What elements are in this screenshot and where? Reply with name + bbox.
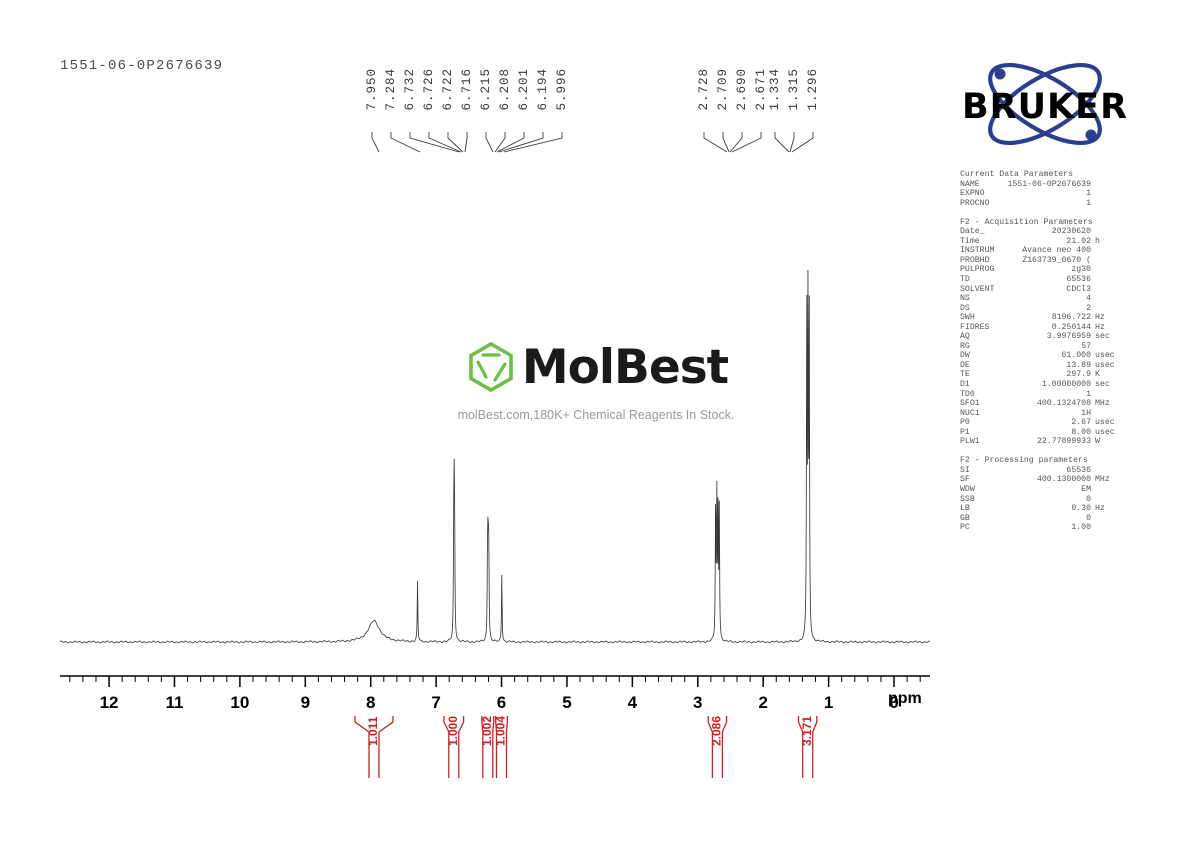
peak-label: 6.215: [479, 68, 493, 111]
parameter-row: DW61.000usec: [960, 351, 1125, 361]
parameter-value: 297.9: [970, 370, 1091, 380]
peak-label: 6.722: [441, 68, 455, 111]
peak-label: 2.709: [716, 68, 730, 111]
parameter-unit: h: [1091, 237, 1125, 247]
parameter-unit: [1091, 342, 1125, 352]
parameter-key: TE: [960, 370, 970, 380]
parameter-row: SF400.1300000MHz: [960, 475, 1125, 485]
parameter-value: 1: [985, 189, 1091, 199]
parameter-key: NUC1: [960, 409, 980, 419]
parameter-unit: usec: [1091, 418, 1125, 428]
parameter-unit: [1091, 485, 1125, 495]
parameter-unit: [1091, 246, 1125, 256]
parameter-unit: [1091, 227, 1125, 237]
parameter-row: NAME1551-06-0P2676639: [960, 180, 1125, 190]
parameter-key: EXPNO: [960, 189, 985, 199]
peak-leader-line: [465, 132, 467, 152]
parameter-key: Date_: [960, 227, 985, 237]
parameter-unit: [1091, 285, 1125, 295]
parameter-value: 1551-06-0P2676639: [980, 180, 1091, 190]
parameter-value: zg30: [994, 265, 1091, 275]
parameter-value: 22.77899933: [980, 437, 1091, 447]
peak-leader-line: [391, 132, 420, 152]
parameter-value: Z163739_0670 (: [989, 256, 1091, 266]
parameter-key: RG: [960, 342, 970, 352]
parameter-row: SWH8196.722Hz: [960, 313, 1125, 323]
integral-value: 2.086: [710, 716, 724, 746]
peak-label: 2.690: [735, 68, 749, 111]
parameter-value: Avance neo 400: [994, 246, 1091, 256]
parameter-key: GB: [960, 514, 970, 524]
parameter-key: SSB: [960, 495, 975, 505]
parameter-value: 21.02: [980, 237, 1091, 247]
peak-label: 1.334: [768, 68, 782, 111]
parameter-key: LB: [960, 504, 970, 514]
parameter-row: AQ3.9976959sec: [960, 332, 1125, 342]
parameter-unit: sec: [1091, 332, 1125, 342]
parameter-value: 13.89: [970, 361, 1091, 371]
axis-tick-label: 9: [301, 693, 310, 712]
parameter-value: 400.1324708: [980, 399, 1091, 409]
axis-tick-label: 11: [165, 693, 183, 712]
peak-label: 5.996: [555, 68, 569, 111]
parameter-unit: Hz: [1091, 313, 1125, 323]
peak-label: 2.671: [754, 68, 768, 111]
parameter-row: Date_20230620: [960, 227, 1125, 237]
parameter-value: 4: [970, 294, 1091, 304]
parameter-section: F2 - Acquisition ParametersDate_20230620…: [960, 218, 1125, 447]
parameter-row: GB0: [960, 514, 1125, 524]
parameter-value: 0: [970, 514, 1091, 524]
parameter-key: SFO1: [960, 399, 980, 409]
parameter-row: TE297.9K: [960, 370, 1125, 380]
parameter-key: PROCNO: [960, 199, 989, 209]
axis-tick-label: 8: [366, 693, 375, 712]
parameter-key: SF: [960, 475, 970, 485]
parameter-key: FIDRES: [960, 323, 989, 333]
parameter-key: DS: [960, 304, 970, 314]
parameter-row: PULPROGzg30: [960, 265, 1125, 275]
parameter-key: TD0: [960, 390, 975, 400]
parameter-unit: usec: [1091, 428, 1125, 438]
parameter-value: 2.67: [970, 418, 1091, 428]
peak-leader-line: [732, 132, 761, 152]
parameter-row: SFO1400.1324708MHz: [960, 399, 1125, 409]
parameter-value: 0.30: [970, 504, 1091, 514]
parameter-value: 57: [970, 342, 1091, 352]
parameter-row: D11.00000000sec: [960, 380, 1125, 390]
parameter-key: INSTRUM: [960, 246, 994, 256]
parameter-key: WDW: [960, 485, 975, 495]
parameter-section-heading: F2 - Processing parameters: [960, 456, 1125, 466]
peak-leader-line: [497, 132, 524, 152]
parameter-row: Time21.02h: [960, 237, 1125, 247]
parameter-unit: [1091, 256, 1125, 266]
parameter-key: TD: [960, 275, 970, 285]
peak-label: 2.728: [697, 68, 711, 111]
parameter-key: NS: [960, 294, 970, 304]
axis-tick-label: 1: [824, 693, 833, 712]
parameter-row: TD01: [960, 390, 1125, 400]
axis-tick-label: 3: [693, 693, 702, 712]
parameter-row: LB0.30Hz: [960, 504, 1125, 514]
peak-leader-line: [775, 132, 789, 152]
parameter-value: 65536: [970, 275, 1091, 285]
nmr-trace: [60, 270, 930, 643]
parameter-unit: [1091, 265, 1125, 275]
parameter-key: DW: [960, 351, 970, 361]
integral-layer: 1.0111.0001.0021.0042.0863.171: [60, 712, 930, 782]
parameter-key: NAME: [960, 180, 980, 190]
parameter-row: P18.00usec: [960, 428, 1125, 438]
peak-label: 6.716: [460, 68, 474, 111]
axis-tick-label: 12: [100, 693, 119, 712]
parameter-key: Time: [960, 237, 980, 247]
parameter-value: 65536: [970, 466, 1091, 476]
parameter-row: DE13.89usec: [960, 361, 1125, 371]
integral-value: 1.002: [480, 716, 494, 746]
axis-ticks: [70, 676, 920, 687]
peak-label: 6.194: [536, 68, 550, 111]
parameter-value: 0.250144: [989, 323, 1091, 333]
peak-leader-line: [790, 132, 794, 152]
axis-tick-label: 5: [562, 693, 571, 712]
parameter-unit: [1091, 275, 1125, 285]
parameter-key: SOLVENT: [960, 285, 994, 295]
parameter-unit: sec: [1091, 380, 1125, 390]
peak-label: 6.732: [403, 68, 417, 111]
parameter-value: 2: [970, 304, 1091, 314]
parameter-key: SWH: [960, 313, 975, 323]
acquisition-parameters-panel: Current Data ParametersNAME1551-06-0P267…: [960, 170, 1125, 542]
parameter-key: DE: [960, 361, 970, 371]
parameter-value: 20230620: [985, 227, 1091, 237]
peak-label: 6.208: [498, 68, 512, 111]
parameter-row: SOLVENTCDCl3: [960, 285, 1125, 295]
parameter-unit: [1091, 199, 1125, 209]
parameter-unit: [1091, 180, 1125, 190]
parameter-value: 0: [975, 495, 1091, 505]
parameter-row: WDWEM: [960, 485, 1125, 495]
peak-leader-line: [486, 132, 493, 152]
parameter-row: FIDRES0.250144Hz: [960, 323, 1125, 333]
axis-tick-label: 10: [230, 693, 249, 712]
parameter-key: P1: [960, 428, 970, 438]
parameter-value: 8196.722: [975, 313, 1091, 323]
peak-leader-line: [792, 132, 813, 152]
parameter-unit: [1091, 523, 1125, 533]
parameter-unit: [1091, 304, 1125, 314]
peak-label: 6.201: [517, 68, 531, 111]
peak-leader-line: [429, 132, 461, 152]
parameter-value: 400.1300000: [970, 475, 1091, 485]
parameter-unit: [1091, 495, 1125, 505]
parameter-row: SSB0: [960, 495, 1125, 505]
parameter-key: AQ: [960, 332, 970, 342]
parameter-unit: Hz: [1091, 504, 1125, 514]
parameter-unit: [1091, 294, 1125, 304]
parameter-key: PLW1: [960, 437, 980, 447]
parameter-unit: [1091, 409, 1125, 419]
nmr-spectrum-page: 1551-06-0P2676639 7.9507.2846.7326.7266.…: [0, 0, 1190, 842]
peak-label: 7.284: [384, 68, 398, 111]
parameter-unit: [1091, 466, 1125, 476]
parameter-row: EXPNO1: [960, 189, 1125, 199]
axis-unit-label: ppm: [888, 690, 922, 708]
integral-value: 1.000: [446, 716, 460, 746]
parameter-value: 8.00: [970, 428, 1091, 438]
parameter-section-heading: Current Data Parameters: [960, 170, 1125, 180]
axis-tick-labels: 1211109876543210: [100, 693, 899, 712]
axis-tick-label: 4: [628, 693, 638, 712]
integral-value: 1.004: [494, 716, 508, 746]
peak-label: 1.315: [787, 68, 801, 111]
peak-leader-line: [372, 132, 379, 152]
parameter-value: 1H: [980, 409, 1091, 419]
spectrum-trace-area: [60, 270, 930, 655]
parameter-row: SI65536: [960, 466, 1125, 476]
peak-leader-line: [504, 132, 562, 152]
integral-value: 3.171: [800, 716, 814, 746]
axis-tick-label: 6: [497, 693, 506, 712]
parameter-row: NUC11H: [960, 409, 1125, 419]
parameter-section: Current Data ParametersNAME1551-06-0P267…: [960, 170, 1125, 208]
parameter-value: 3.9976959: [970, 332, 1091, 342]
parameter-unit: usec: [1091, 361, 1125, 371]
parameter-row: NS4: [960, 294, 1125, 304]
parameter-row: DS2: [960, 304, 1125, 314]
peak-leader-line: [704, 132, 727, 152]
bruker-logo: BRUKER: [958, 52, 1133, 157]
parameter-value: 61.000: [970, 351, 1091, 361]
parameter-key: PROBHD: [960, 256, 989, 266]
parameter-key: PC: [960, 523, 970, 533]
bruker-wordmark: BRUKER: [962, 87, 1128, 127]
peak-leader-line: [730, 132, 742, 152]
parameter-row: PROBHDZ163739_0670 (: [960, 256, 1125, 266]
integral-value: 1.011: [366, 716, 380, 746]
parameter-unit: [1091, 514, 1125, 524]
parameter-key: D1: [960, 380, 970, 390]
axis-tick-label: 2: [758, 693, 767, 712]
peak-leader-line: [499, 132, 543, 152]
parameter-row: INSTRUMAvance neo 400: [960, 246, 1125, 256]
parameter-value: 1: [975, 390, 1091, 400]
parameter-unit: MHz: [1091, 475, 1125, 485]
parameter-value: 1: [989, 199, 1091, 209]
peak-label: 1.296: [806, 68, 820, 111]
parameter-row: RG57: [960, 342, 1125, 352]
parameter-value: EM: [975, 485, 1091, 495]
parameter-value: CDCl3: [994, 285, 1091, 295]
parameter-value: 1.00000000: [970, 380, 1091, 390]
parameter-row: PLW122.77899933W: [960, 437, 1125, 447]
parameter-unit: Hz: [1091, 323, 1125, 333]
peak-leader-line: [723, 132, 729, 152]
parameter-row: PC1.00: [960, 523, 1125, 533]
parameter-unit: usec: [1091, 351, 1125, 361]
parameter-row: P02.67usec: [960, 418, 1125, 428]
parameter-value: 1.00: [970, 523, 1091, 533]
parameter-key: PULPROG: [960, 265, 994, 275]
parameter-key: SI: [960, 466, 970, 476]
parameter-row: PROCNO1: [960, 199, 1125, 209]
parameter-section: F2 - Processing parametersSI65536SF400.1…: [960, 456, 1125, 532]
parameter-unit: [1091, 390, 1125, 400]
parameter-unit: K: [1091, 370, 1125, 380]
axis-tick-label: 7: [431, 693, 440, 712]
parameter-unit: MHz: [1091, 399, 1125, 409]
peak-leader-line: [448, 132, 463, 152]
parameter-row: TD65536: [960, 275, 1125, 285]
parameter-unit: W: [1091, 437, 1125, 447]
parameter-key: P0: [960, 418, 970, 428]
peak-label: 6.726: [422, 68, 436, 111]
parameter-unit: [1091, 189, 1125, 199]
peak-label: 7.950: [365, 68, 379, 111]
parameter-section-heading: F2 - Acquisition Parameters: [960, 218, 1125, 228]
